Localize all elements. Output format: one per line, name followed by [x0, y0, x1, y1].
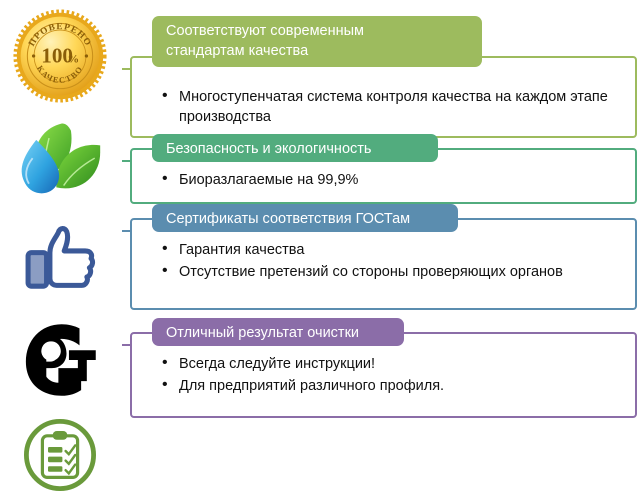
- list-item: Всегда следуйте инструкции!: [162, 354, 623, 374]
- feature-bullets-4: Всегда следуйте инструкции! Для предприя…: [162, 354, 623, 398]
- rst-mark-graphic: [19, 321, 101, 399]
- list-item: Многоступенчатая система контроля качест…: [162, 87, 623, 127]
- svg-text:%: %: [68, 54, 80, 66]
- thumbs-up-graphic: [18, 219, 102, 303]
- eco-leaf-droplet-graphic: [14, 118, 106, 202]
- thumbs-up-icon: [0, 210, 120, 312]
- feature-heading-1: Соответствуют современным стандартам кач…: [152, 16, 482, 67]
- feature-heading-2: Безопасность и экологичность: [152, 134, 438, 162]
- content-column: Соответствуют современным стандартам кач…: [120, 0, 637, 504]
- list-item: Биоразлагаемые на 99,9%: [162, 170, 623, 190]
- feature-heading-4: Отличный результат очистки: [152, 318, 404, 346]
- feature-bullets-1: Многоступенчатая система контроля качест…: [162, 87, 623, 129]
- feature-bullets-2: Биоразлагаемые на 99,9%: [162, 170, 623, 192]
- eco-leaf-droplet-icon: [0, 112, 120, 208]
- checklist-icon: [0, 408, 120, 502]
- quality-seal-graphic: ПРОВЕРЕНО КАЧЕСТВО 100 %: [12, 8, 108, 104]
- checklist-graphic: [20, 415, 100, 495]
- feature-heading-3: Сертификаты соответствия ГОСТам: [152, 204, 458, 232]
- rst-gost-mark-icon: [0, 314, 120, 406]
- feature-bullets-3: Гарантия качества Отсутствие претензий с…: [162, 240, 623, 284]
- quality-seal-icon: ПРОВЕРЕНО КАЧЕСТВО 100 %: [0, 2, 120, 110]
- list-item: Для предприятий различного профиля.: [162, 376, 623, 396]
- list-item: Отсутствие претензий со стороны проверяю…: [162, 262, 623, 282]
- list-item: Гарантия качества: [162, 240, 623, 260]
- icon-column: ПРОВЕРЕНО КАЧЕСТВО 100 %: [0, 0, 120, 504]
